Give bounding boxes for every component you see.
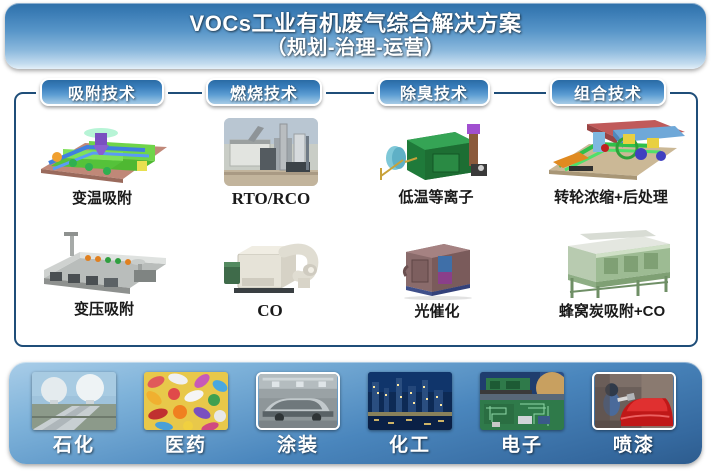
tech-item-co[interactable]: CO [214,238,326,319]
industry-item-electronics[interactable]: 电子 [476,372,568,455]
tech-item-plasma[interactable]: 低温等离子 [372,118,500,205]
spray-painting-red-car-photo-icon [592,372,676,430]
tech-item-honeycomb-carbon[interactable]: 蜂窝炭吸附+CO [530,230,694,319]
plasma-unit-diagram-icon [377,118,495,186]
tech-label-rotor-concentrator: 转轮浓缩+后处理 [554,190,668,205]
tech-label-honeycomb-carbon: 蜂窝炭吸附+CO [559,304,665,319]
category-label-deodorization: 除臭技术 [400,80,468,104]
tech-item-photocatalysis[interactable]: 光催化 [385,236,489,319]
refinery-night-photo-icon [368,372,452,430]
pcb-assembly-photo-icon [480,372,564,430]
category-label-combustion: 燃烧技术 [230,80,298,104]
industry-label-pharmaceutical: 医药 [165,436,207,455]
industry-item-spray-painting[interactable]: 喷漆 [588,372,680,455]
category-label-adsorption: 吸附技术 [68,80,136,104]
photocatalysis-unit-photo-icon [392,236,482,300]
tech-label-psa: 变压吸附 [74,302,134,317]
category-button-combustion[interactable]: 燃烧技术 [206,78,322,106]
spherical-tanks-pipes-photo-icon [32,372,116,430]
industry-item-petrochemical[interactable]: 石化 [28,372,120,455]
page-title-line2: （规划-治理-运营） [266,37,444,61]
tech-label-photocatalysis: 光催化 [414,304,459,319]
tech-item-tsa[interactable]: 变温吸附 [22,117,182,206]
tsa-plant-diagram-icon [27,117,177,187]
category-button-adsorption[interactable]: 吸附技术 [40,78,164,106]
psa-skid-photo-icon [34,232,174,298]
rotor-concentrator-diagram-icon [535,114,687,186]
car-body-paint-line-photo-icon [256,372,340,430]
category-button-deodorization[interactable]: 除臭技术 [378,78,490,106]
tech-item-rto-rco[interactable]: RTO/RCO [216,118,326,207]
industry-label-petrochemical: 石化 [53,436,95,455]
industry-label-chemical: 化工 [389,436,431,455]
rto-rco-photo-icon [224,118,318,186]
industry-label-coating: 涂装 [277,436,319,455]
slide-root: VOCs工业有机废气综合解决方案 （规划-治理-运营） 吸附技术 燃烧技术 除臭… [0,0,711,471]
tech-label-tsa: 变温吸附 [72,191,132,206]
industry-item-chemical[interactable]: 化工 [364,372,456,455]
tech-item-rotor-concentrator[interactable]: 转轮浓缩+后处理 [528,114,694,205]
page-title-banner: VOCs工业有机废气综合解决方案 （规划-治理-运营） [5,3,706,69]
industry-item-pharmaceutical[interactable]: 医药 [140,372,232,455]
category-button-combined[interactable]: 组合技术 [550,78,666,106]
category-label-combined: 组合技术 [574,80,642,104]
pills-capsules-photo-icon [144,372,228,430]
page-title-line1: VOCs工业有机废气综合解决方案 [190,11,522,37]
industry-label-electronics: 电子 [501,436,543,455]
catalytic-oxidizer-photo-icon [218,238,322,298]
industry-item-coating[interactable]: 涂装 [252,372,344,455]
tech-label-rto-rco: RTO/RCO [232,190,310,207]
tech-item-psa[interactable]: 变压吸附 [30,232,178,317]
tech-label-plasma: 低温等离子 [398,190,473,205]
tech-label-co: CO [257,302,283,319]
industry-label-spray-painting: 喷漆 [613,436,655,455]
honeycomb-carbon-adsorber-photo-icon [546,230,678,300]
